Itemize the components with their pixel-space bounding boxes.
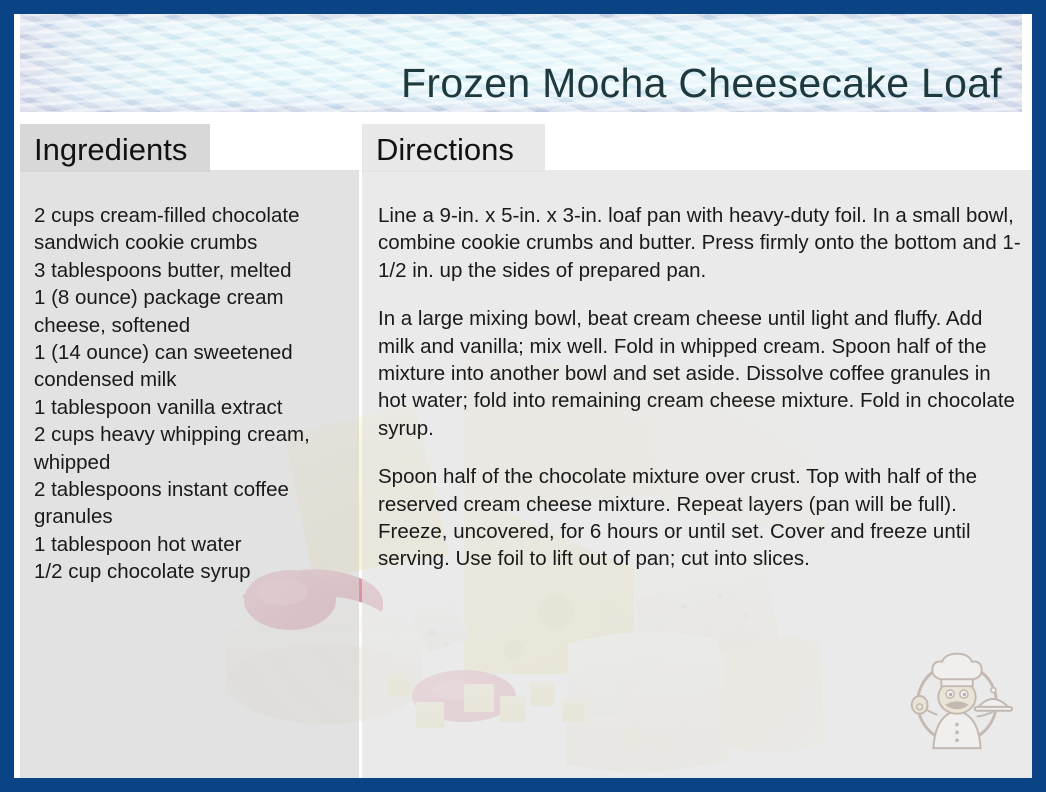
recipe-card: Frozen Mocha Cheesecake Loaf bbox=[0, 0, 1046, 792]
directions-heading: Directions bbox=[376, 134, 514, 165]
ingredients-list: 2 cups cream-filled chocolate sandwich c… bbox=[34, 202, 344, 586]
list-item: 1/2 cup chocolate syrup bbox=[34, 558, 344, 585]
list-item: 1 tablespoon hot water bbox=[34, 531, 344, 558]
list-item: 2 tablespoons instant coffee granules bbox=[34, 476, 344, 531]
directions-text: Line a 9-in. x 5-in. x 3-in. loaf pan wi… bbox=[378, 202, 1024, 573]
list-item: 1 (14 ounce) can sweetened condensed mil… bbox=[34, 339, 344, 394]
page-title: Frozen Mocha Cheesecake Loaf bbox=[401, 61, 1002, 106]
list-item: 3 tablespoons butter, melted bbox=[34, 257, 344, 284]
directions-paragraph: Spoon half of the chocolate mixture over… bbox=[378, 463, 1024, 573]
list-item: 1 tablespoon vanilla extract bbox=[34, 394, 344, 421]
directions-paragraph: In a large mixing bowl, beat cream chees… bbox=[378, 305, 1024, 442]
list-item: 1 (8 ounce) package cream cheese, soften… bbox=[34, 284, 344, 339]
list-item: 2 cups cream-filled chocolate sandwich c… bbox=[34, 202, 344, 257]
list-item: 2 cups heavy whipping cream, whipped bbox=[34, 421, 344, 476]
title-banner: Frozen Mocha Cheesecake Loaf bbox=[20, 14, 1022, 112]
directions-paragraph: Line a 9-in. x 5-in. x 3-in. loaf pan wi… bbox=[378, 202, 1024, 284]
ingredients-heading: Ingredients bbox=[34, 134, 187, 165]
